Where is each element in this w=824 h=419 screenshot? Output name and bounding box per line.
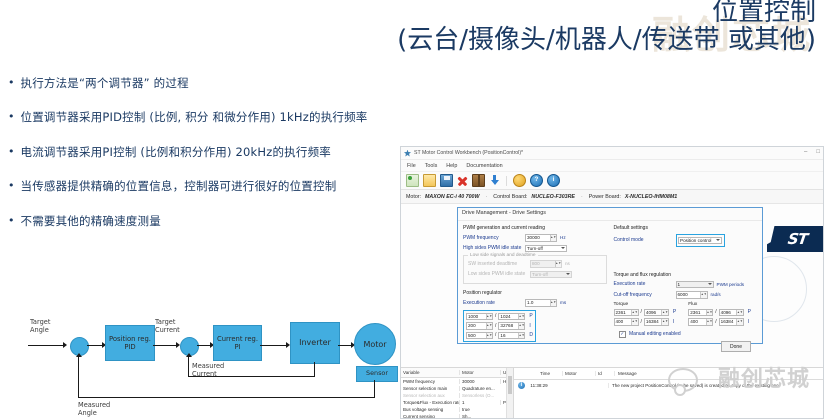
table-row[interactable]: PWM frequency 30000 Hz: [401, 378, 513, 385]
torque-p-numerator-value: 2361: [616, 310, 626, 315]
title-line-1: 位置控制: [397, 0, 816, 26]
tf-exec-rate-unit: PWM periods: [717, 282, 745, 287]
flux-p-numerator-value: 2361: [690, 310, 700, 315]
arrow-feedback-current: [186, 353, 192, 357]
pid-i-numerator-input[interactable]: 200 ▲▼: [466, 322, 493, 330]
cell-motor: true: [459, 407, 500, 412]
dialog-title: Drive Management - Drive Settings: [458, 208, 762, 221]
block-inverter: Inverter: [290, 322, 340, 364]
variables-vertical-scrollbar[interactable]: [506, 368, 513, 419]
motor-value: MAXON EC-i 40 700W: [425, 194, 479, 200]
help-icon[interactable]: ?: [530, 174, 543, 187]
flux-p-denominator-input[interactable]: 4096 ▲▼: [719, 309, 744, 317]
spinner-buttons[interactable]: ▲▼: [661, 319, 668, 325]
control-mode-highlight: Position control: [676, 234, 725, 247]
spinner-buttons[interactable]: ▲▼: [706, 319, 713, 325]
info-separator: ·: [485, 194, 487, 200]
block-position-regulator: Position reg.PID: [105, 325, 155, 361]
bullet-text: 执行方法是“两个调节器” 的过程: [21, 76, 189, 90]
position-exec-rate-input[interactable]: 1.0 ▲▼: [525, 299, 557, 307]
cell-variable: Bus voltage sensing: [401, 407, 459, 412]
low-side-idle-label: Low sides PWM idle state: [468, 271, 530, 277]
page-title: 位置控制 (云台/摄像头/机器人/传送带 或其他): [397, 0, 816, 54]
board-info-bar: Motor: MAXON EC-i 40 700W · Control Boar…: [401, 190, 823, 204]
sw-deadtime-field: SW inserted deadtime 800 ▲▼ ns: [468, 260, 602, 268]
variables-table-header: Variable Motor Uni: [401, 368, 513, 378]
block-current-regulator: Current reg.PI: [213, 325, 262, 361]
bullet-text: 位置调节器采用PID控制 (比例, 积分 和微分作用) 1kHz的执行频率: [21, 110, 368, 124]
spinner-buttons[interactable]: ▲▼: [518, 314, 525, 320]
col-time: Time: [528, 371, 562, 376]
scrollbar-thumb[interactable]: [508, 376, 512, 394]
torque-flux-title: Torque and flux regulation: [614, 272, 758, 278]
bullet-list: • 执行方法是“两个调节器” 的过程 • 位置调节器采用PID控制 (比例, 积…: [8, 76, 408, 248]
spinner-buttons[interactable]: ▲▼: [736, 319, 743, 325]
pid-p-denominator-input[interactable]: 1024 ▲▼: [498, 313, 525, 321]
torque-row-p: 2361 ▲▼ / 4096 ▲▼ P: [614, 309, 683, 317]
menu-tools[interactable]: Tools: [425, 163, 438, 169]
flux-i-denominator-input[interactable]: 16384 ▲▼: [719, 318, 744, 326]
info-separator: ·: [581, 194, 583, 200]
bullet-text: 不需要其他的精确速度测量: [21, 214, 161, 228]
cell-variable: Current sensing: [401, 414, 459, 419]
tf-exec-rate-value: 1: [678, 282, 681, 287]
flux-row-i: 400 ▲▼ / 16384 ▲▼ I: [688, 318, 757, 326]
dialog-footer: Done: [614, 338, 758, 352]
torque-i-denominator-input[interactable]: 16384 ▲▼: [644, 318, 669, 326]
flux-p-numerator-input[interactable]: 2361 ▲▼: [688, 309, 713, 317]
list-item: • 不需要其他的精确速度测量: [8, 214, 408, 228]
col-motor: Motor: [459, 370, 500, 375]
cell-time: 11:38:29: [522, 383, 556, 388]
variables-panel: Variable Motor Uni PWM frequency 30000 H…: [401, 368, 514, 419]
spinner-buttons[interactable]: ▲▼: [631, 310, 638, 316]
arrow-feedback-angle: [76, 353, 82, 357]
flux-i-numerator-value: 400: [690, 319, 698, 324]
tf-exec-rate-label: Execution rate: [614, 281, 676, 287]
line-inverter-down: [314, 362, 315, 377]
menu-help[interactable]: Help: [446, 163, 457, 169]
menubar: File Tools Help Documentation: [401, 160, 823, 172]
cell-motor: Sh...: [459, 414, 500, 419]
pwm-frequency-value: 30000: [527, 235, 540, 240]
position-exec-rate-value: 1.0: [527, 300, 533, 305]
bullet-marker: •: [8, 110, 15, 124]
app-logo-icon: [404, 150, 411, 157]
high-side-idle-value: Turn-off: [527, 246, 543, 251]
position-regulator-title: Position regulator: [463, 290, 607, 296]
spinner-buttons[interactable]: ▲▼: [486, 333, 493, 339]
watermark-bottom: 融创芯城: [718, 361, 810, 393]
motor-label: Motor:: [406, 194, 421, 200]
flux-p-denominator-value: 4096: [721, 310, 731, 315]
torque-p-denominator-input[interactable]: 4096 ▲▼: [644, 309, 669, 317]
table-row[interactable]: Bus voltage sensing true: [401, 406, 513, 413]
diagram-label-measured-current: MeasuredCurrent: [192, 362, 224, 378]
torque-flux-subpanels: Torque 2361 ▲▼ / 4096 ▲▼: [614, 302, 758, 328]
pwm-frequency-label: PWM frequency: [463, 235, 525, 241]
torque-i-denominator-value: 16384: [646, 319, 659, 324]
pid-slash: /: [641, 319, 642, 325]
manual-editing-checkbox[interactable]: ✓: [619, 331, 627, 339]
cell-motor: 1: [459, 400, 500, 405]
watermark-wechat-icon: [668, 368, 698, 392]
pid-slash: /: [641, 309, 642, 315]
table-row[interactable]: Current sensing Sh...: [401, 413, 513, 419]
line-input: [28, 345, 64, 346]
pwm-frequency-field: PWM frequency 30000 ▲▼ Hz: [463, 234, 607, 242]
spinner-buttons[interactable]: ▲▼: [550, 300, 557, 306]
power-board-label: Power Board:: [589, 194, 621, 200]
high-side-idle-field: High sides PWM idle state Turn-off: [463, 245, 607, 253]
cutoff-frequency-label: Cut-off frequency: [614, 292, 676, 298]
dialog-left-column: PWM generation and current reading PWM f…: [463, 225, 607, 352]
dialog-content: PWM generation and current reading PWM f…: [458, 221, 762, 352]
slide-root: 融创芯城 位置控制 (云台/摄像头/机器人/传送带 或其他) • 执行方法是“两…: [0, 0, 824, 419]
control-mode-label: Control mode: [614, 237, 676, 243]
spinner-buttons[interactable]: ▲▼: [550, 235, 557, 241]
cutoff-frequency-input[interactable]: 6000 ▲▼: [676, 291, 708, 299]
list-item: • 位置调节器采用PID控制 (比例, 积分 和微分作用) 1kHz的执行频率: [8, 110, 408, 124]
pid-row-d: 500 ▲▼ / 16 ▲▼ D: [466, 332, 533, 340]
power-board-value: X-NUCLEO-IHM08M1: [625, 194, 677, 200]
cell-motor: 30000: [459, 379, 500, 384]
spinner-buttons[interactable]: ▲▼: [518, 333, 525, 339]
line-feedback-angle-up: [78, 357, 79, 398]
delete-icon[interactable]: [457, 175, 468, 186]
window-title: ST Motor Control Workbench (PositionCont…: [414, 150, 523, 156]
position-exec-rate-unit: ms: [560, 300, 566, 305]
bullet-text: 当传感器提供精确的位置信息，控制器可进行很好的位置控制: [21, 179, 337, 193]
chevron-down-icon: [716, 239, 720, 241]
pid-p-numerator-value: 1000: [468, 314, 478, 319]
app-body: ST Drive Management - Drive Settings PWM…: [401, 204, 823, 367]
download-icon[interactable]: [489, 175, 500, 186]
diagram-label-target-current: TargetCurrent: [155, 318, 180, 334]
chevron-down-icon: [561, 247, 565, 249]
pwm-frequency-input[interactable]: 30000 ▲▼: [525, 234, 557, 242]
pid-slash: /: [715, 319, 716, 325]
cell-variable: PWM frequency: [401, 379, 459, 384]
cutoff-frequency-unit: rad/s: [711, 292, 721, 297]
block-sensor: Sensor: [356, 366, 398, 382]
minimize-button[interactable]: –: [804, 149, 807, 155]
pid-i-denominator-input[interactable]: 32768 ▲▼: [498, 322, 525, 330]
pid-p-numerator-input[interactable]: 1000 ▲▼: [466, 313, 493, 321]
position-pid-highlight: 1000 ▲▼ / 1024 ▲▼ P: [463, 310, 536, 343]
diagram-label-measured-angle: MeasuredAngle: [78, 401, 110, 417]
done-button[interactable]: Done: [721, 341, 751, 352]
st-logo-text: ST: [787, 230, 809, 248]
pid-i-tag: I: [529, 323, 530, 329]
torque-row-i: 400 ▲▼ / 16384 ▲▼ I: [614, 318, 683, 326]
pid-i-denominator-value: 32768: [500, 323, 513, 328]
new-project-icon[interactable]: [406, 174, 419, 187]
package-icon[interactable]: [472, 174, 485, 187]
bullet-marker: •: [8, 76, 15, 90]
pid-slash: /: [495, 323, 496, 329]
table-row[interactable]: Torque&Flux - Execution rate 1 PW: [401, 399, 513, 406]
cutoff-frequency-field: Cut-off frequency 6000 ▲▼ rad/s: [614, 291, 758, 299]
flux-head: Flux: [688, 302, 757, 307]
spinner-buttons[interactable]: ▲▼: [486, 323, 493, 329]
arrow-input: [63, 342, 67, 348]
block-motor: Motor: [354, 323, 396, 365]
line-sensor-down: [374, 380, 375, 398]
control-board-label: Control Board:: [493, 194, 527, 200]
bullet-marker: •: [8, 214, 15, 228]
position-exec-rate-field: Execution rate 1.0 ▲▼ ms: [463, 299, 607, 307]
pid-p-tag: P: [529, 313, 532, 319]
control-board-value: NUCLEO-F303RE: [531, 194, 575, 200]
menu-documentation[interactable]: Documentation: [466, 163, 502, 169]
flux-i-tag: I: [748, 319, 749, 325]
title-line-2: (云台/摄像头/机器人/传送带 或其他): [397, 26, 816, 54]
pid-d-numerator-value: 500: [468, 333, 476, 338]
flux-row-p: 2361 ▲▼ / 4096 ▲▼ P: [688, 309, 757, 317]
spinner-buttons[interactable]: ▲▼: [661, 310, 668, 316]
info-icon[interactable]: i: [547, 174, 560, 187]
drive-settings-dialog: Drive Management - Drive Settings PWM ge…: [457, 207, 763, 344]
line-currentreg-inverter: [260, 345, 288, 346]
torque-panel: Torque 2361 ▲▼ / 4096 ▲▼: [614, 302, 683, 328]
flux-panel: Flux 2361 ▲▼ / 4096 ▲▼: [688, 302, 757, 328]
control-mode-select[interactable]: Position control: [678, 237, 722, 245]
bullet-marker: •: [8, 179, 15, 193]
list-item: • 电流调节器采用PI控制 (比例和积分作用) 20kHz的执行频率: [8, 145, 408, 159]
dialog-right-column: Default settings Control mode Position c…: [614, 225, 758, 352]
toolbar: ? i: [401, 172, 823, 190]
torque-i-numerator-value: 400: [616, 319, 624, 324]
save-project-icon[interactable]: [440, 174, 453, 187]
spinner-buttons[interactable]: ▲▼: [700, 292, 707, 298]
cell-variable: Sensor selection main: [401, 386, 459, 391]
open-project-icon[interactable]: [423, 174, 436, 187]
pid-row-p: 1000 ▲▼ / 1024 ▲▼ P: [466, 313, 533, 321]
clock-icon[interactable]: [513, 174, 526, 187]
pid-slash: /: [715, 309, 716, 315]
chevron-down-icon: [708, 283, 712, 285]
tf-exec-rate-field: Execution rate 1 PWM periods: [614, 281, 758, 289]
cell-variable: Torque&Flux - Execution rate: [401, 400, 459, 405]
torque-p-tag: P: [673, 309, 676, 315]
pid-d-numerator-input[interactable]: 500 ▲▼: [466, 332, 493, 340]
bullet-marker: •: [8, 145, 15, 159]
flux-p-tag: P: [748, 309, 751, 315]
pid-p-denominator-value: 1024: [500, 314, 510, 319]
spinner-buttons[interactable]: ▲▼: [736, 310, 743, 316]
flux-i-numerator-input[interactable]: 400 ▲▼: [688, 318, 713, 326]
spinner-buttons[interactable]: ▲▼: [706, 310, 713, 316]
pid-i-numerator-value: 200: [468, 323, 476, 328]
pwm-group-title: PWM generation and current reading: [463, 225, 607, 231]
default-settings-title: Default settings: [614, 225, 758, 231]
line-pid-sum2: [153, 345, 178, 346]
table-row[interactable]: Sensor selection aux Sensorless (O...: [401, 392, 513, 399]
pid-slash: /: [495, 332, 496, 338]
high-side-idle-label: High sides PWM idle state: [463, 245, 525, 251]
col-variable: Variable: [401, 370, 459, 375]
sw-deadtime-label: SW inserted deadtime: [468, 261, 530, 267]
control-mode-value: Position control: [680, 238, 711, 243]
low-side-idle-value: Turn-off: [532, 272, 548, 277]
flux-i-denominator-value: 16384: [721, 319, 734, 324]
spinner-buttons[interactable]: ▲▼: [486, 314, 493, 320]
cell-motor: Sensorless (O...: [459, 393, 500, 398]
manual-editing-label: Manual editing enabled: [629, 331, 681, 337]
col-id: Id: [595, 371, 614, 376]
torque-p-numerator-input[interactable]: 2361 ▲▼: [614, 309, 639, 317]
spinner-buttons[interactable]: ▲▼: [518, 323, 525, 329]
list-item: • 当传感器提供精确的位置信息，控制器可进行很好的位置控制: [8, 179, 408, 193]
control-mode-field: Control mode Position control: [614, 234, 758, 247]
pid-d-denominator-value: 16: [500, 333, 505, 338]
list-item: • 执行方法是“两个调节器” 的过程: [8, 76, 408, 90]
high-side-idle-select[interactable]: Turn-off: [525, 245, 567, 253]
pid-d-denominator-input[interactable]: 16 ▲▼: [498, 332, 525, 340]
torque-head: Torque: [614, 302, 683, 307]
position-exec-rate-label: Execution rate: [463, 300, 525, 306]
pid-row-i: 200 ▲▼ / 32768 ▲▼ I: [466, 322, 533, 330]
spinner-buttons[interactable]: ▲▼: [631, 319, 638, 325]
torque-p-denominator-value: 4096: [646, 310, 656, 315]
torque-i-numerator-input[interactable]: 400 ▲▼: [614, 318, 639, 326]
table-row[interactable]: Sensor selection main Quadrature en...: [401, 385, 513, 392]
toolbar-separator: [506, 176, 507, 186]
pid-d-tag: D: [529, 332, 533, 338]
manual-editing-row[interactable]: ✓ Manual editing enabled: [619, 331, 758, 339]
diagram-label-target-angle: TargetAngle: [30, 318, 50, 334]
low-side-idle-select: Turn-off: [530, 271, 572, 279]
menu-file[interactable]: File: [407, 163, 416, 169]
line-feedback-current-up: [188, 357, 189, 377]
low-side-idle-field: Low sides PWM idle state Turn-off: [468, 271, 602, 279]
window-titlebar: ST Motor Control Workbench (PositionCont…: [401, 147, 823, 160]
col-motor: Motor: [562, 371, 595, 376]
sw-deadtime-input: 800 ▲▼: [530, 260, 562, 268]
sw-deadtime-value: 800: [532, 261, 540, 266]
window-controls: – □: [804, 149, 820, 155]
pwm-frequency-unit: Hz: [560, 235, 566, 240]
chevron-down-icon: [566, 273, 570, 275]
spinner-buttons: ▲▼: [555, 261, 562, 267]
pid-slash: /: [495, 313, 496, 319]
cell-variable: Sensor selection aux: [401, 393, 459, 398]
cell-motor: Quadrature en...: [459, 386, 500, 391]
bullet-text: 电流调节器采用PI控制 (比例和积分作用) 20kHz的执行频率: [21, 145, 332, 159]
sw-deadtime-unit: ns: [565, 261, 570, 266]
tf-exec-rate-select[interactable]: 1: [676, 281, 714, 289]
line-feedback-angle: [78, 397, 375, 398]
low-side-fieldset: Low side signals and deadtime SW inserte…: [463, 255, 607, 284]
control-block-diagram: TargetAngle Position reg.PID TargetCurre…: [0, 300, 410, 419]
cutoff-frequency-value: 6000: [678, 292, 688, 297]
torque-i-tag: I: [673, 319, 674, 325]
maximize-button[interactable]: □: [816, 149, 820, 155]
low-side-legend: Low side signals and deadtime: [468, 253, 538, 258]
st-logo: ST: [767, 226, 823, 252]
